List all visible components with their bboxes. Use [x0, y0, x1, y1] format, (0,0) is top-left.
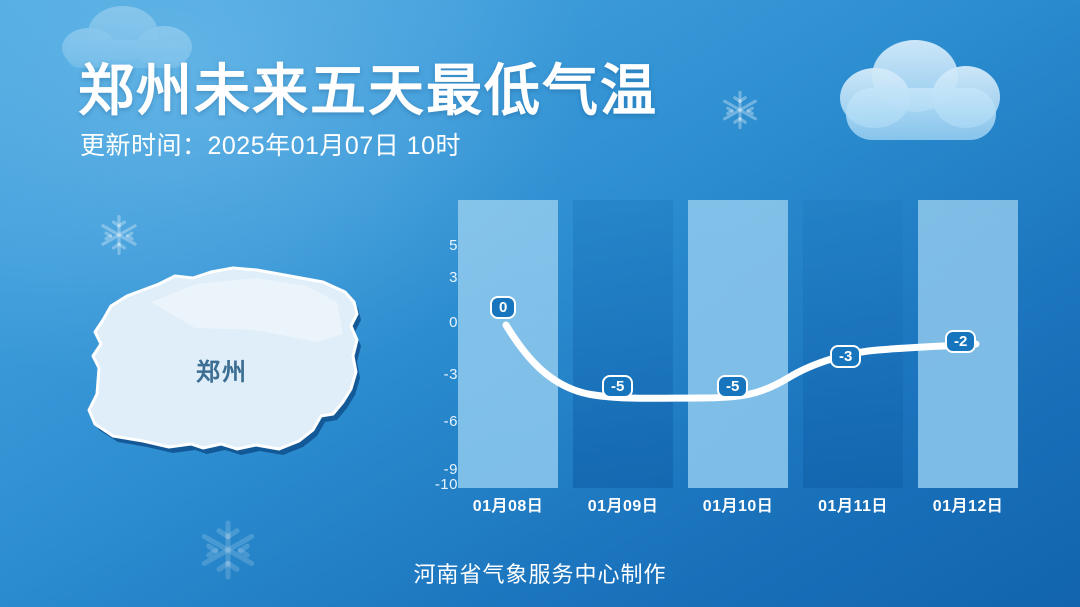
x-tick-label: 01月09日 — [563, 492, 683, 516]
weather-infographic: 郑州未来五天最低气温 更新时间：2025年01月07日 10时 郑州 5 3 0… — [0, 0, 1080, 607]
x-tick-label: 01月08日 — [448, 492, 568, 516]
temperature-line — [410, 190, 1030, 510]
data-point-label: -5 — [602, 375, 633, 398]
x-tick-label: 01月12日 — [908, 492, 1028, 516]
update-time: 更新时间：2025年01月07日 10时 — [80, 126, 461, 162]
data-point-label: 0 — [490, 296, 516, 319]
data-point-label: -3 — [830, 345, 861, 368]
temperature-chart: 5 3 0 -3 -6 -9 -10 0 -5 -5 -3 -2 01月08日 … — [410, 190, 1030, 510]
data-point-label: -5 — [717, 375, 748, 398]
page-title: 郑州未来五天最低气温 — [78, 46, 658, 127]
map-city-label: 郑州 — [196, 352, 248, 387]
data-point-label: -2 — [945, 330, 976, 353]
footer-credit: 河南省气象服务中心制作 — [0, 557, 1080, 589]
cloud-icon — [840, 40, 1000, 140]
snowflake-icon — [718, 88, 762, 132]
x-tick-label: 01月10日 — [678, 492, 798, 516]
x-tick-label: 01月11日 — [793, 492, 913, 516]
